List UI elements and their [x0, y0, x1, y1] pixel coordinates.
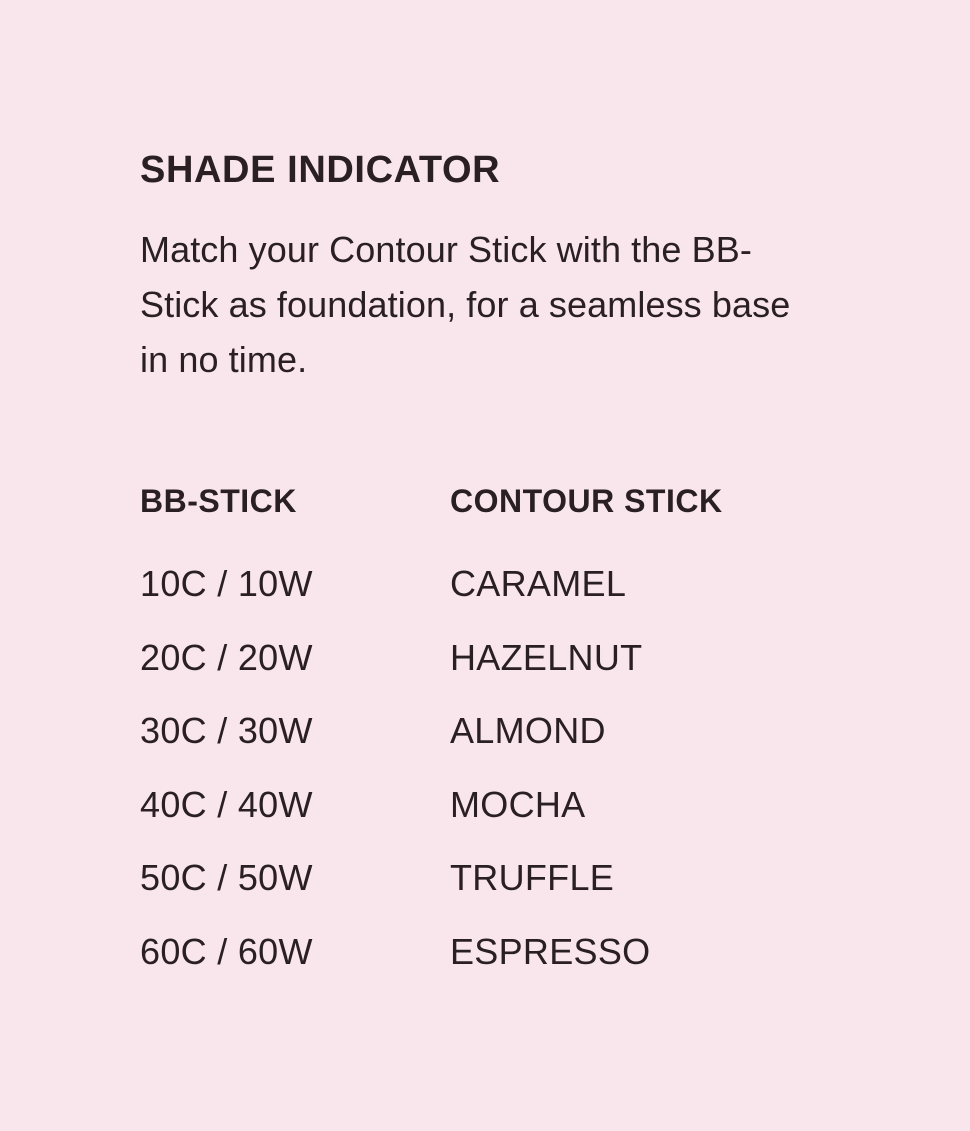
- cell-contour-stick: CARAMEL: [450, 563, 840, 605]
- cell-bb-stick: 30C / 30W: [140, 710, 450, 752]
- cell-contour-stick: ALMOND: [450, 710, 840, 752]
- table-row: 20C / 20W HAZELNUT: [140, 637, 840, 711]
- cell-bb-stick: 60C / 60W: [140, 931, 450, 973]
- table-row: 60C / 60W ESPRESSO: [140, 931, 840, 1005]
- cell-bb-stick: 40C / 40W: [140, 784, 450, 826]
- cell-bb-stick: 20C / 20W: [140, 637, 450, 679]
- cell-contour-stick: ESPRESSO: [450, 931, 840, 973]
- table-header-row: BB-STICK CONTOUR STICK: [140, 482, 840, 563]
- column-header-contour-stick: CONTOUR STICK: [450, 482, 840, 520]
- table-row: 10C / 10W CARAMEL: [140, 563, 840, 637]
- cell-bb-stick: 50C / 50W: [140, 857, 450, 899]
- cell-contour-stick: MOCHA: [450, 784, 840, 826]
- table-row: 50C / 50W TRUFFLE: [140, 857, 840, 931]
- table-row: 40C / 40W MOCHA: [140, 784, 840, 858]
- shade-matching-table: BB-STICK CONTOUR STICK 10C / 10W CARAMEL…: [140, 482, 840, 1004]
- cell-contour-stick: TRUFFLE: [450, 857, 840, 899]
- cell-bb-stick: 10C / 10W: [140, 563, 450, 605]
- page-title: SHADE INDICATOR: [140, 148, 500, 192]
- table-row: 30C / 30W ALMOND: [140, 710, 840, 784]
- cell-contour-stick: HAZELNUT: [450, 637, 840, 679]
- column-header-bb-stick: BB-STICK: [140, 482, 450, 520]
- intro-description: Match your Contour Stick with the BB-Sti…: [140, 222, 800, 387]
